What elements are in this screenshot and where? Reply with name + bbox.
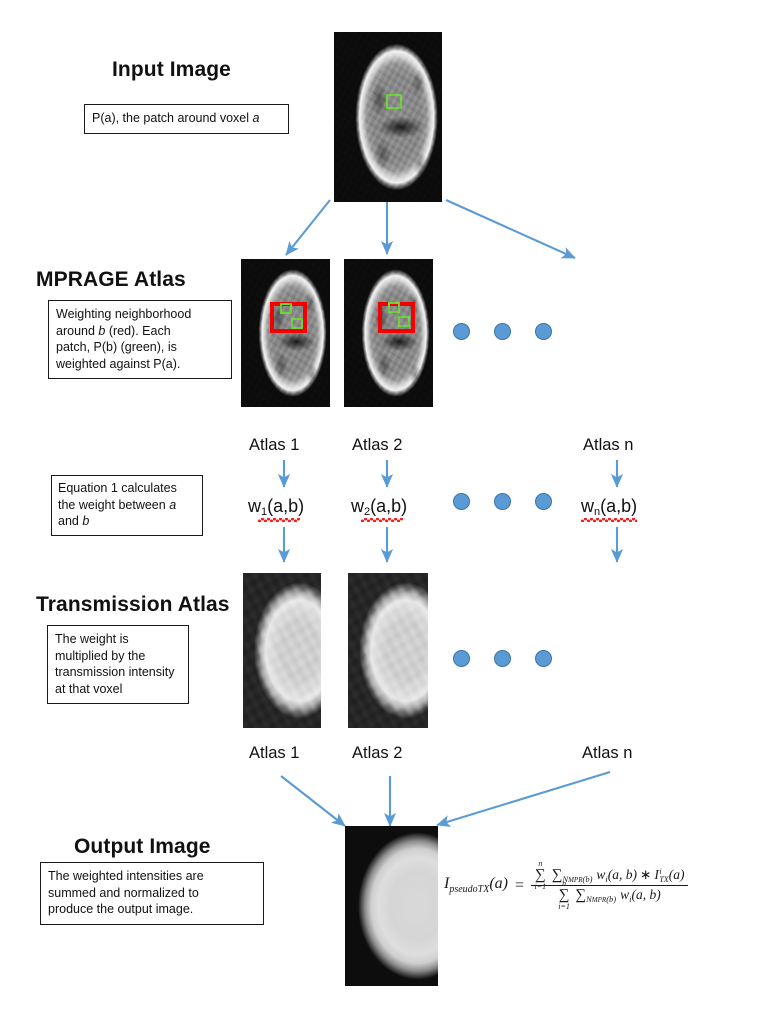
caption-mprage-weighting: Weighting neighborhood around b (red). E… bbox=[48, 300, 232, 379]
equation-num-intensity-sub: TX bbox=[659, 876, 668, 884]
arrow-txatlasn-to-output bbox=[437, 772, 610, 825]
equation-num-sum1: n∑i=1 bbox=[535, 867, 546, 884]
transmission-atlas-n-label: Atlas n bbox=[582, 744, 632, 763]
equation-num-sum2-sub3: (b) bbox=[582, 874, 592, 884]
atlas2-patch-box-green-1 bbox=[388, 302, 400, 313]
caption-input-patch-italic: a bbox=[253, 111, 260, 125]
weight-term-n-args: (a,b) bbox=[600, 496, 637, 516]
equation-den-sum1: n∑i=1 bbox=[559, 887, 570, 904]
caption-transmission: The weight is multiplied by the transmis… bbox=[47, 625, 189, 704]
weight-term-2-args: (a,b) bbox=[370, 496, 407, 516]
equation-num-sum2-symbol: ∑ bbox=[552, 867, 563, 883]
arrow-txatlas1-to-output bbox=[281, 776, 345, 826]
equation-num-sum1-bottom: i=1 bbox=[535, 882, 547, 891]
arrow-input-to-atlasn bbox=[446, 200, 575, 258]
page-title-mprage-atlas: MPRAGE Atlas bbox=[36, 268, 186, 292]
equation-den-sum2-sub3: (b) bbox=[606, 894, 616, 904]
input-brain-image bbox=[334, 32, 442, 202]
ellipsis-dot-mprage-2 bbox=[494, 323, 511, 340]
transmission-atlas-1-label: Atlas 1 bbox=[249, 744, 299, 763]
equation-num-sum1-top: n bbox=[538, 859, 542, 868]
caption-mprage-line4: weighted against P(a). bbox=[56, 356, 224, 373]
spellcheck-underline-wn bbox=[581, 518, 637, 522]
caption-equation-note-line2: the weight between a bbox=[58, 497, 196, 514]
weight-term-2-sub: 2 bbox=[364, 506, 370, 518]
equation-den-sum2-sub2: MPR bbox=[592, 896, 606, 904]
spellcheck-underline-w2 bbox=[361, 518, 403, 522]
weight-term-1-sub: 1 bbox=[261, 506, 267, 518]
spellcheck-underline-w1 bbox=[258, 518, 300, 522]
caption-equation-note-line3-pre: and bbox=[58, 514, 82, 528]
caption-transmission-line1: The weight is bbox=[55, 631, 181, 648]
equation-equals: = bbox=[515, 877, 524, 895]
transmission-atlas-2-image bbox=[348, 573, 428, 728]
weight-term-1-args: (a,b) bbox=[267, 496, 304, 516]
atlas1-patch-box-green-2 bbox=[291, 318, 303, 329]
mprage-atlas-2-image bbox=[344, 259, 433, 407]
caption-output-line1: The weighted intensities are bbox=[48, 868, 256, 885]
equation-num-weight-args: (a, b) bbox=[608, 867, 637, 882]
ellipsis-dot-weights-3 bbox=[535, 493, 552, 510]
caption-input-patch: P(a), the patch around voxel a bbox=[84, 104, 289, 134]
caption-equation-note-line2-italic: a bbox=[169, 498, 176, 512]
ellipsis-dot-weights-1 bbox=[453, 493, 470, 510]
ellipsis-dot-mprage-1 bbox=[453, 323, 470, 340]
weight-term-1-base: w bbox=[248, 496, 261, 516]
arrow-input-to-atlas1 bbox=[286, 200, 330, 255]
equation-den-weight-args: (a, b) bbox=[632, 887, 661, 902]
equation-num-intensity-supsub: iTX bbox=[659, 868, 668, 884]
equation-den-sum2-symbol: ∑ bbox=[575, 887, 586, 903]
caption-output: The weighted intensities are summed and … bbox=[40, 862, 264, 925]
input-patch-box-green bbox=[386, 94, 402, 109]
page-title-output-image: Output Image bbox=[74, 835, 211, 859]
caption-transmission-line2: multiplied by the bbox=[55, 648, 181, 665]
caption-output-line3: produce the output image. bbox=[48, 901, 256, 918]
caption-mprage-line2-pre: around bbox=[56, 324, 98, 338]
ellipsis-dot-tx-1 bbox=[453, 650, 470, 667]
equation-numerator: n∑i=1∑NMPR(b)wi(a, b)∗IiTX(a) bbox=[531, 866, 688, 886]
diagram-canvas: Input Image P(a), the patch around voxel… bbox=[0, 0, 758, 1010]
transmission-atlas-2-label: Atlas 2 bbox=[352, 744, 402, 763]
caption-mprage-line3: patch, P(b) (green), is bbox=[56, 339, 224, 356]
equation-lhs: IpseudoTX(a) bbox=[444, 875, 508, 895]
caption-transmission-line3: transmission intensity bbox=[55, 664, 181, 681]
caption-equation-note: Equation 1 calculates the weight between… bbox=[51, 475, 203, 536]
page-title-input-image: Input Image bbox=[112, 58, 231, 82]
ellipsis-dot-tx-2 bbox=[494, 650, 511, 667]
caption-mprage-line2-post: (red). Each bbox=[105, 324, 170, 338]
ellipsis-dot-weights-2 bbox=[494, 493, 511, 510]
caption-mprage-line1: Weighting neighborhood bbox=[56, 306, 224, 323]
equation-den-weight: w bbox=[620, 887, 629, 902]
atlas1-patch-box-green-1 bbox=[280, 303, 292, 314]
equation-denominator: n∑i=1∑NMPR(b)wi(a, b) bbox=[555, 886, 665, 905]
equation-num-times: ∗ bbox=[640, 867, 651, 882]
page-title-transmission-atlas: Transmission Atlas bbox=[36, 593, 230, 617]
weight-term-n-base: w bbox=[581, 496, 594, 516]
equation-lhs-arg: (a) bbox=[489, 875, 508, 892]
ellipsis-dot-tx-3 bbox=[535, 650, 552, 667]
caption-transmission-line4: at that voxel bbox=[55, 681, 181, 698]
equation-num-sum1-symbol: ∑ bbox=[535, 867, 546, 883]
equation-num-sum2: ∑ bbox=[552, 867, 563, 884]
equation-num-intensity: I bbox=[654, 867, 659, 882]
weight-term-n: wn(a,b) bbox=[581, 496, 637, 517]
mprage-atlas-1-image bbox=[241, 259, 330, 407]
caption-input-patch-text: P(a), the patch around voxel bbox=[92, 111, 253, 125]
equation-pseudo-tx: IpseudoTX(a) = n∑i=1∑NMPR(b)wi(a, b)∗IiT… bbox=[444, 866, 688, 905]
equation-num-intensity-arg: (a) bbox=[669, 867, 685, 882]
mprage-atlas-1-label: Atlas 1 bbox=[249, 436, 299, 455]
equation-den-sum1-top: n bbox=[562, 879, 566, 888]
ellipsis-dot-mprage-3 bbox=[535, 323, 552, 340]
equation-lhs-sub: pseudoTX bbox=[449, 885, 489, 896]
caption-mprage-line2: around b (red). Each bbox=[56, 323, 224, 340]
mprage-atlas-2-label: Atlas 2 bbox=[352, 436, 402, 455]
atlas2-patch-box-green-2 bbox=[398, 316, 410, 327]
caption-equation-note-line1: Equation 1 calculates bbox=[58, 480, 196, 497]
output-pseudo-tx-image bbox=[345, 826, 438, 986]
caption-output-line2: summed and normalized to bbox=[48, 885, 256, 902]
caption-equation-note-line3: and b bbox=[58, 513, 196, 530]
weight-term-1: w1(a,b) bbox=[248, 496, 304, 517]
equation-num-sum2-sub2: MPR bbox=[568, 876, 582, 884]
weight-term-n-sub: n bbox=[594, 506, 600, 518]
equation-den-sum1-symbol: ∑ bbox=[559, 887, 570, 903]
caption-equation-note-line2-pre: the weight between bbox=[58, 498, 169, 512]
caption-equation-note-line3-italic: b bbox=[82, 514, 89, 528]
weight-term-2-base: w bbox=[351, 496, 364, 516]
weight-term-2: w2(a,b) bbox=[351, 496, 407, 517]
transmission-atlas-1-image bbox=[243, 573, 321, 728]
equation-den-sum2: ∑ bbox=[575, 887, 586, 904]
equation-den-sum1-bottom: i=1 bbox=[558, 902, 570, 911]
equation-fraction: n∑i=1∑NMPR(b)wi(a, b)∗IiTX(a) n∑i=1∑NMPR… bbox=[531, 866, 688, 905]
mprage-atlas-n-label: Atlas n bbox=[583, 436, 633, 455]
